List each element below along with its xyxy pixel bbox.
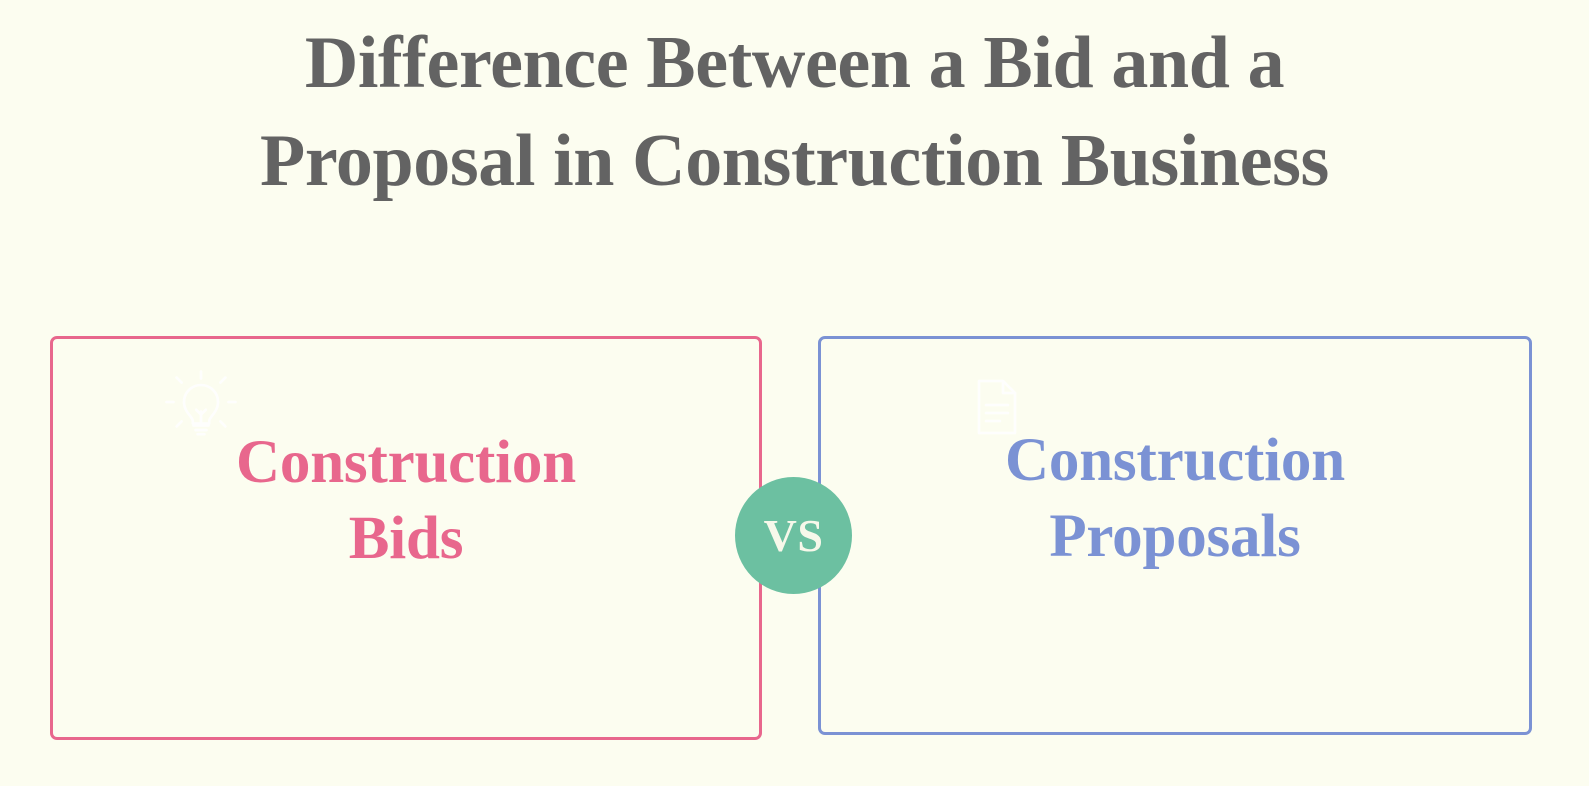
comparison-card-bids-label: Construction Bids <box>53 425 759 577</box>
page-title-line-1: Difference Between a Bid and a <box>0 14 1589 112</box>
vs-badge-label: VS <box>735 477 852 594</box>
comparison-card-proposals[interactable]: Construction Proposals <box>818 336 1532 735</box>
comparison-card-proposals-label-line-2: Proposals <box>821 499 1529 575</box>
page-title-line-2: Proposal in Construction Business <box>0 112 1589 210</box>
comparison-card-bids-label-line-2: Bids <box>53 501 759 577</box>
comparison-card-proposals-label: Construction Proposals <box>821 423 1529 575</box>
infographic-canvas: Difference Between a Bid and a Proposal … <box>0 0 1589 786</box>
page-title: Difference Between a Bid and a Proposal … <box>0 14 1589 210</box>
comparison-card-bids-label-line-1: Construction <box>53 425 759 501</box>
comparison-card-bids[interactable]: Construction Bids <box>50 336 762 740</box>
comparison-row: Construction Bids VS <box>0 336 1589 746</box>
vs-badge: VS <box>735 477 852 594</box>
comparison-card-proposals-label-line-1: Construction <box>821 423 1529 499</box>
